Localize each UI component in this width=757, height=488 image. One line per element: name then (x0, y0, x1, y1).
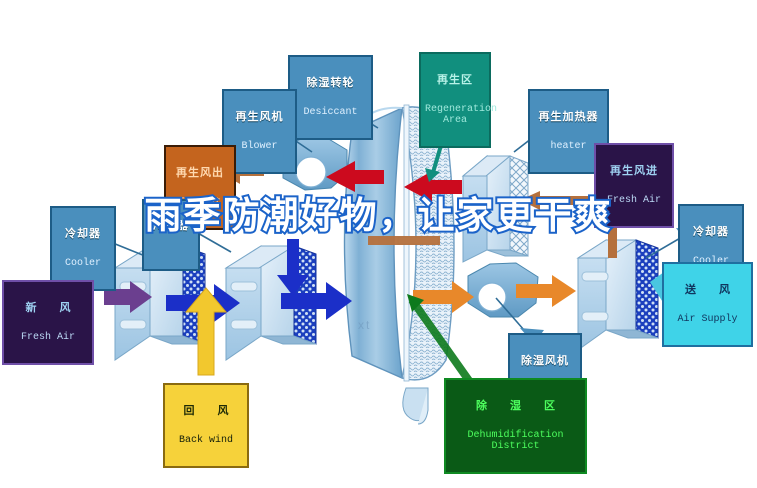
label-dehum-district-en: Dehumidification District (450, 430, 581, 452)
watermark: xt (358, 318, 371, 332)
label-regeneration-area[interactable]: 再生区 Regeneration Area (419, 52, 491, 148)
label-back-wind-en: Back wind (169, 435, 243, 446)
dehumidifier-flow-diagram: 除湿转轮 Desiccant 再生风机 Blower 再生风出 Exhaust … (0, 0, 757, 488)
label-desiccant[interactable]: 除湿转轮 Desiccant (288, 55, 373, 140)
label-regen-heater-en: heater (534, 141, 603, 152)
regen-duct-bar (368, 236, 440, 245)
label-cooler-left-en: Cooler (56, 258, 110, 269)
label-dehum-district-cn: 除 湿 区 (450, 400, 581, 412)
label-air-supply-en: Air Supply (668, 314, 747, 325)
label-regeneration-area-en: Regeneration Area (425, 104, 485, 126)
label-air-supply[interactable]: 送 风 Air Supply (662, 262, 753, 347)
label-regen-blower-en: Blower (228, 141, 291, 152)
label-fresh-air-left-en: Fresh Air (8, 332, 88, 343)
label-air-supply-cn: 送 风 (668, 284, 747, 296)
label-regen-fresh-air-cn: 再生风进 (600, 165, 668, 177)
label-exhaust-cn: 再生风出 (170, 167, 230, 179)
label-fresh-air-left[interactable]: 新 风 Fresh Air (2, 280, 94, 365)
label-desiccant-en: Desiccant (294, 107, 367, 118)
label-fresh-air-left-cn: 新 风 (8, 302, 88, 314)
label-desiccant-cn: 除湿转轮 (294, 77, 367, 89)
label-back-wind[interactable]: 回 风 Back wind (163, 383, 249, 468)
label-regeneration-area-cn: 再生区 (425, 74, 485, 86)
label-back-wind-cn: 回 风 (169, 405, 243, 417)
promo-headline: 雨季防潮好物，让家更干爽 (0, 198, 757, 234)
promo-headline-text: 雨季防潮好物，让家更干爽 (145, 194, 613, 237)
label-regen-blower-cn: 再生风机 (228, 111, 291, 123)
label-dehum-blower-cn: 除湿风机 (514, 355, 576, 367)
label-dehumidification-district[interactable]: 除 湿 区 Dehumidification District (444, 378, 587, 474)
label-regen-heater-cn: 再生加热器 (534, 111, 603, 123)
cooler-unit-right (578, 240, 658, 350)
